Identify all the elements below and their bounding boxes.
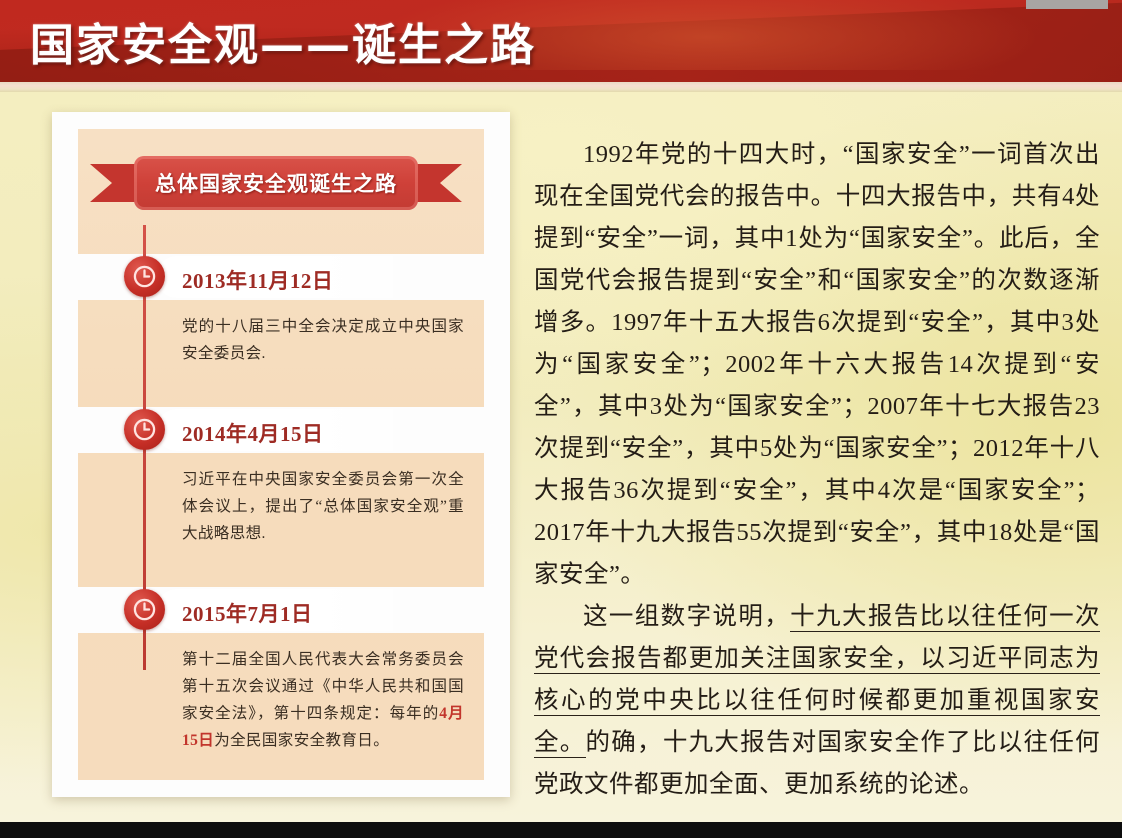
bottom-bar (0, 822, 1122, 838)
slide-root: 国家安全观——诞生之路 总体国家安全观诞生之路 (0, 0, 1122, 838)
top-edge-artifact (1026, 0, 1108, 9)
article-paragraph-2: 这一组数字说明，十九大报告比以往任何一次党代会报告都更加关注国家安全，以习近平同… (534, 596, 1100, 806)
header-separator (0, 82, 1122, 92)
article-lead: 这一组数字说明， (583, 603, 790, 630)
clock-icon (124, 409, 165, 450)
timeline-description: 第十二届全国人民代表大会常务委员会第十五次会议通过《中华人民共和国国家安全法》，… (182, 646, 464, 754)
infographic-panel: 总体国家安全观诞生之路 2013年11月12日 党的十八届三中全会决定成立中央国… (78, 129, 484, 780)
timeline-description: 党的十八届三中全会决定成立中央国家安全委员会. (182, 313, 464, 367)
clock-icon (124, 589, 165, 630)
clock-icon (124, 256, 165, 297)
ribbon-banner: 总体国家安全观诞生之路 (90, 156, 462, 210)
ribbon-title: 总体国家安全观诞生之路 (134, 156, 418, 210)
timeline-date: 2014年4月15日 (182, 418, 324, 448)
header-banner: 国家安全观——诞生之路 (0, 0, 1122, 82)
timeline-description-part: 第十二届全国人民代表大会常务委员会第十五次会议通过《中华人民共和国国家安全法》，… (182, 651, 464, 722)
page-title: 国家安全观——诞生之路 (30, 9, 536, 73)
ribbon-body: 总体国家安全观诞生之路 (134, 156, 418, 210)
article-body: 1992年党的十四大时，“国家安全”一词首次出现在全国党代会的报告中。十四大报告… (534, 134, 1100, 806)
timeline-description-part: 为全民国家安全教育日。 (214, 732, 389, 749)
infographic-card: 总体国家安全观诞生之路 2013年11月12日 党的十八届三中全会决定成立中央国… (52, 112, 510, 797)
timeline-date: 2015年7月1日 (182, 598, 313, 628)
timeline-date: 2013年11月12日 (182, 265, 333, 295)
article-tail: 的确，十九大报告对国家安全作了比以往任何党政文件都更加全面、更加系统的论述。 (534, 729, 1100, 798)
timeline-description: 习近平在中央国家安全委员会第一次全体会议上，提出了“总体国家安全观”重大战略思想… (182, 466, 464, 547)
article-paragraph-1: 1992年党的十四大时，“国家安全”一词首次出现在全国党代会的报告中。十四大报告… (534, 134, 1100, 596)
